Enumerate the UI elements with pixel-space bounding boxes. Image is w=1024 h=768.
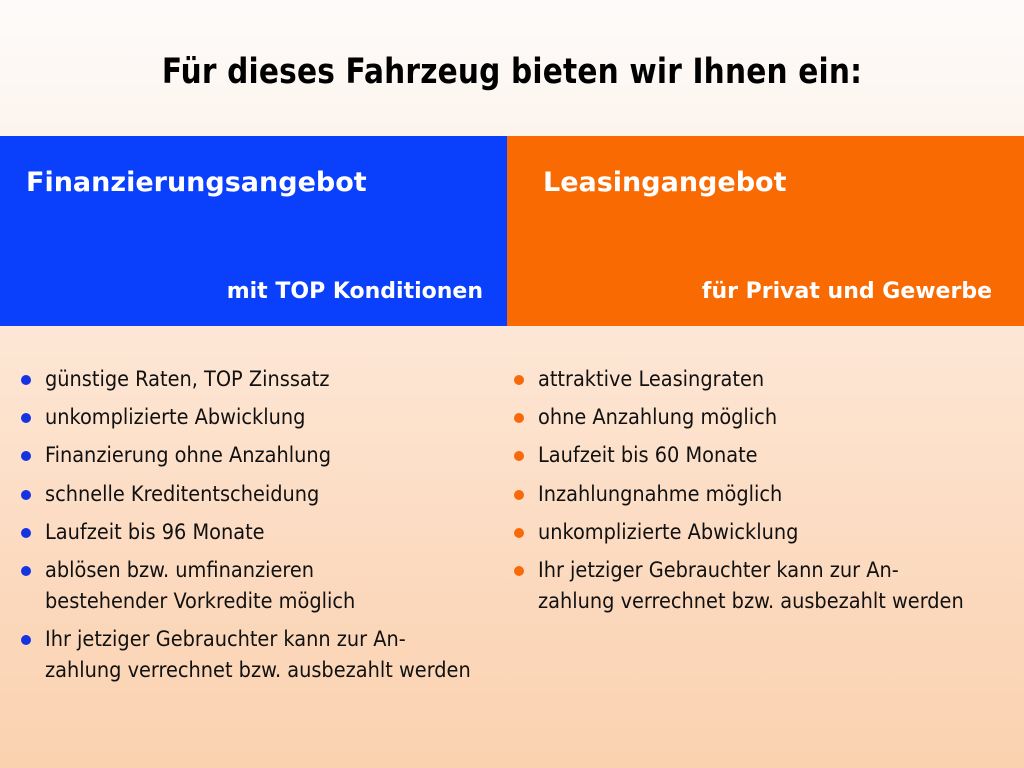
offer-slide: Für dieses Fahrzeug bieten wir Ihnen ein… <box>0 0 1024 768</box>
leasing-feature-item: Laufzeit bis 60 Monate <box>512 440 1024 471</box>
financing-feature-item: Finanzierung ohne Anzahlung <box>19 440 512 471</box>
financing-feature-item: schnelle Kreditentscheidung <box>19 479 512 510</box>
financing-feature-item: günstige Raten, TOP Zinssatz <box>19 364 512 395</box>
financing-feature-item: Laufzeit bis 96 Monate <box>19 517 512 548</box>
leasing-feature-item: attraktive Leasingraten <box>512 364 1024 395</box>
financing-features-column: günstige Raten, TOP Zinssatzunkomplizier… <box>0 364 512 694</box>
banner-financing-subheading: mit TOP Konditionen <box>26 279 483 304</box>
banner-leasing: Leasingangebot für Privat und Gewerbe <box>507 136 1024 326</box>
leasing-feature-item: ohne Anzahlung möglich <box>512 402 1024 433</box>
leasing-features-column: attraktive Leasingratenohne Anzahlung mö… <box>512 364 1024 694</box>
page-title: Für dieses Fahrzeug bieten wir Ihnen ein… <box>31 52 994 92</box>
leasing-feature-item: unkomplizierte Abwicklung <box>512 517 1024 548</box>
banner-financing-heading: Finanzierungsangebot <box>26 169 483 197</box>
financing-feature-list: günstige Raten, TOP Zinssatzunkomplizier… <box>19 364 512 687</box>
financing-feature-item: unkomplizierte Abwicklung <box>19 402 512 433</box>
banner-leasing-subheading: für Privat und Gewerbe <box>543 279 992 304</box>
leasing-feature-item: Ihr jetziger Gebrauchter kann zur An- za… <box>512 555 1024 617</box>
offer-feature-columns: günstige Raten, TOP Zinssatzunkomplizier… <box>0 364 1024 694</box>
financing-feature-item: Ihr jetziger Gebrauchter kann zur An- za… <box>19 624 512 686</box>
banner-financing: Finanzierungsangebot mit TOP Konditionen <box>0 136 507 326</box>
offer-banners: Finanzierungsangebot mit TOP Konditionen… <box>0 136 1024 326</box>
banner-leasing-heading: Leasingangebot <box>543 169 992 197</box>
financing-feature-item: ablösen bzw. umfinanzieren bestehender V… <box>19 555 512 617</box>
leasing-feature-item: Inzahlungnahme möglich <box>512 479 1024 510</box>
leasing-feature-list: attraktive Leasingratenohne Anzahlung mö… <box>512 364 1024 617</box>
